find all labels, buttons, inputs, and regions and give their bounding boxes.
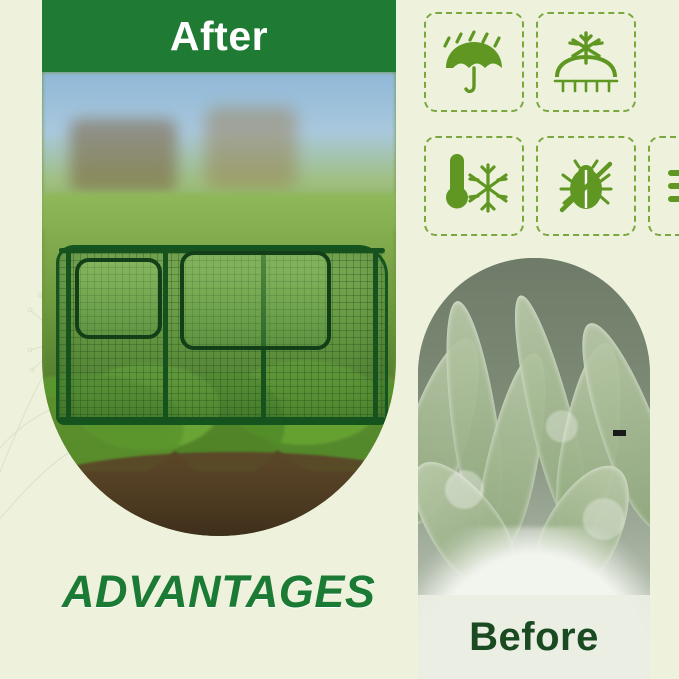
feature-icon-grid [424,8,674,248]
feature-wind-protection [648,136,679,236]
after-panel: After ADVANT [42,0,396,536]
greenhouse-window-left [75,258,161,339]
feature-frost-protection [424,136,524,236]
before-label: Before [469,615,599,660]
greenhouse-body [56,245,388,425]
no-bug-icon [553,153,619,219]
after-label: After [170,13,268,60]
advantages-title: ADVANTAGES [62,566,452,618]
poster-root: After ADVANT [0,0,679,679]
thermometer-snowflake-icon [436,153,512,219]
feature-pest-protection [536,136,636,236]
snowflake-on-cover-icon [551,29,621,95]
after-photo-soil-front [42,452,396,536]
feature-rain-protection [424,12,524,112]
before-label-bar: Before [418,595,650,679]
greenhouse-tunnel [56,211,382,452]
greenhouse-window-right [180,251,331,349]
feature-snow-protection [536,12,636,112]
edge-marker [613,430,626,436]
umbrella-rain-icon [441,28,507,96]
wind-lines-icon [665,161,679,211]
before-panel: Before [418,258,650,679]
before-photo: Before [418,258,650,679]
after-header: After [42,0,396,72]
after-photo [42,72,396,536]
